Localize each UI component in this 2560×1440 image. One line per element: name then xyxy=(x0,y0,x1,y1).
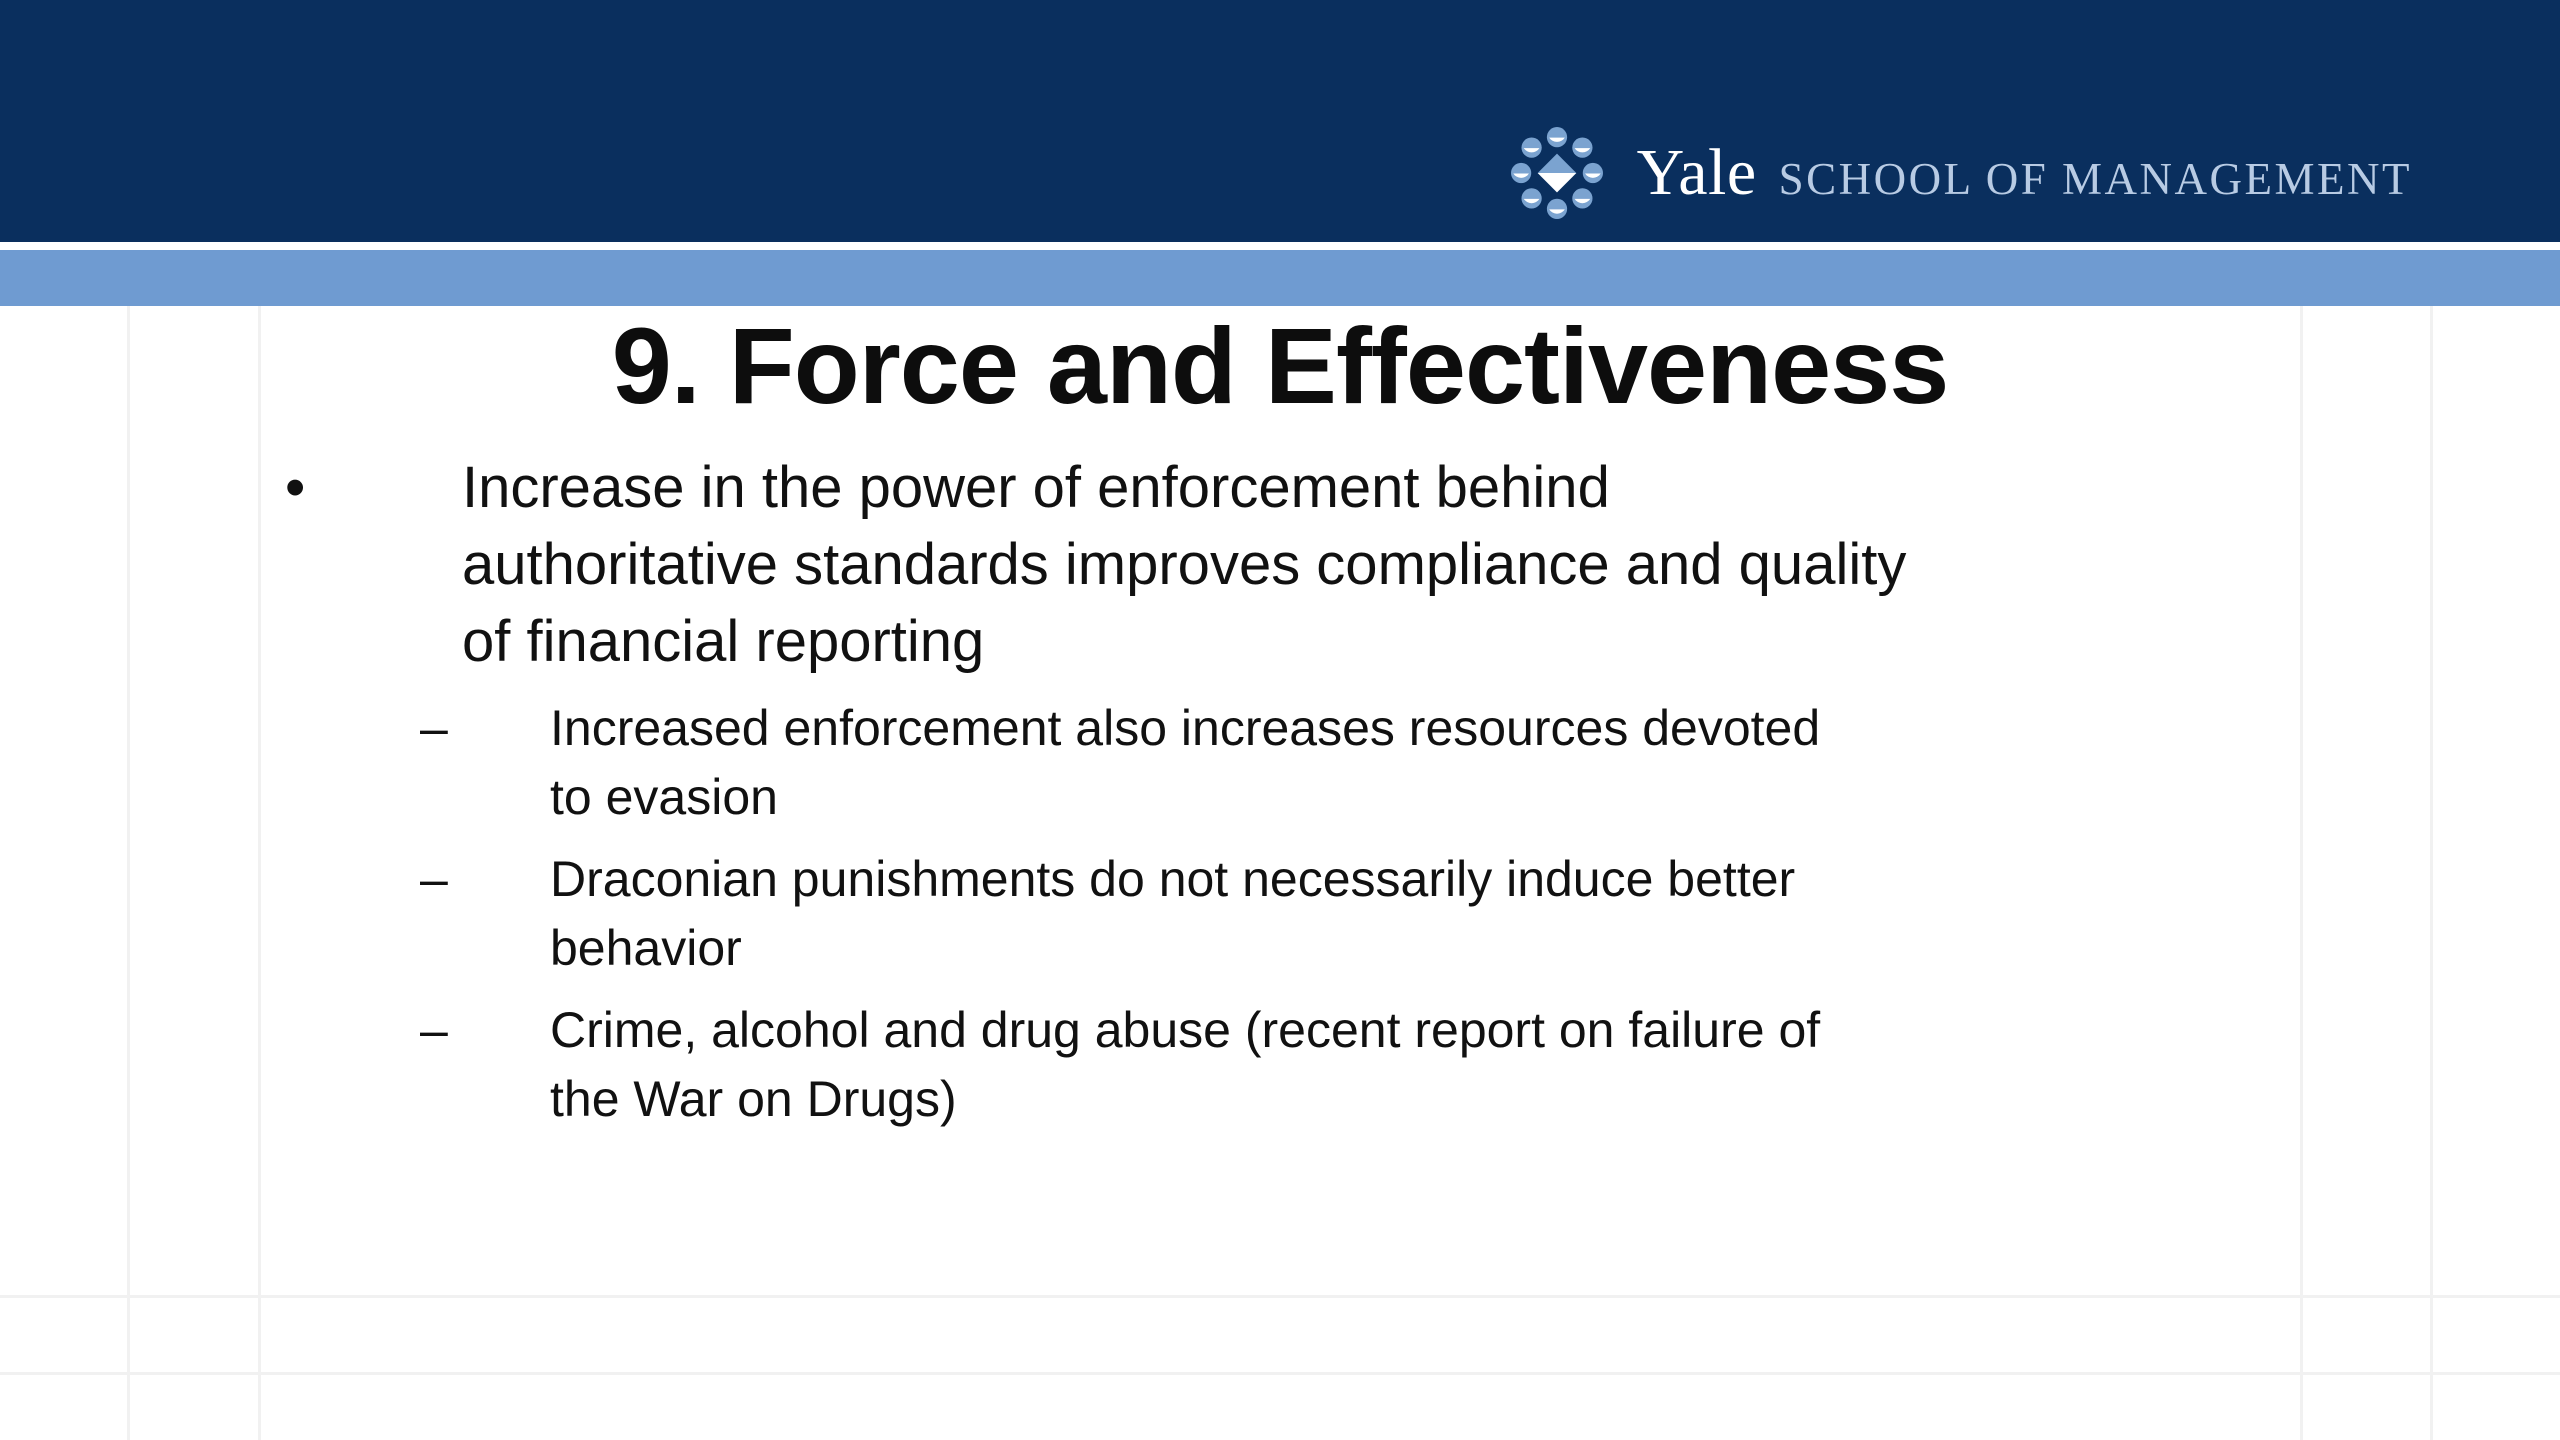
bullet-dash-icon: – xyxy=(420,694,550,763)
brand-name: Yale xyxy=(1637,140,1757,206)
yale-som-brand-lockup: Yale SCHOOL OF MANAGEMENT xyxy=(1511,128,2412,218)
bullet-text-line: Increased enforcement also increases res… xyxy=(550,694,2350,763)
bullet-text-line: Crime, alcohol and drug abuse (recent re… xyxy=(550,996,2350,1065)
yale-wordmark: Yale SCHOOL OF MANAGEMENT xyxy=(1637,140,2412,206)
bullet-text: Increased enforcement also increases res… xyxy=(550,694,2350,831)
bullet-item-level-2: –Crime, alcohol and drug abuse (recent r… xyxy=(0,996,2560,1133)
yale-sunburst-logo-icon xyxy=(1511,127,1603,219)
brand-unit: SCHOOL OF MANAGEMENT xyxy=(1779,157,2412,202)
bullet-text: Crime, alcohol and drug abuse (recent re… xyxy=(550,996,2350,1133)
bullet-text-line: of financial reporting xyxy=(462,603,2282,680)
bullet-dot-icon: • xyxy=(285,449,462,526)
bullet-item-level-1: •Increase in the power of enforcement be… xyxy=(0,449,2560,680)
bullet-text: Increase in the power of enforcement beh… xyxy=(462,449,2282,680)
bullet-text-line: authoritative standards improves complia… xyxy=(462,526,2282,603)
bullet-list: •Increase in the power of enforcement be… xyxy=(0,449,2560,1133)
slide-content: 9. Force and Effectiveness •Increase in … xyxy=(0,306,2560,1133)
bullet-dash-icon: – xyxy=(420,996,550,1065)
bullet-item-level-2: –Increased enforcement also increases re… xyxy=(0,694,2560,831)
bullet-text-line: Draconian punishments do not necessarily… xyxy=(550,845,2350,914)
slide-canvas: Yale SCHOOL OF MANAGEMENT 9. Force and E… xyxy=(0,0,2560,1440)
page-title: 9. Force and Effectiveness xyxy=(0,306,2560,427)
bullet-text-line: behavior xyxy=(550,914,2350,983)
header-accent-band xyxy=(0,250,2560,306)
bullet-text-line: Increase in the power of enforcement beh… xyxy=(462,449,2282,526)
grid-line-horizontal-1 xyxy=(0,1372,2560,1375)
bullet-item-level-2: –Draconian punishments do not necessaril… xyxy=(0,845,2560,982)
bullet-text-line: the War on Drugs) xyxy=(550,1065,2350,1134)
bullet-text: Draconian punishments do not necessarily… xyxy=(550,845,2350,982)
header-divider-line xyxy=(0,242,2560,250)
bullet-dash-icon: – xyxy=(420,845,550,914)
grid-line-horizontal-0 xyxy=(0,1295,2560,1298)
bullet-text-line: to evasion xyxy=(550,763,2350,832)
